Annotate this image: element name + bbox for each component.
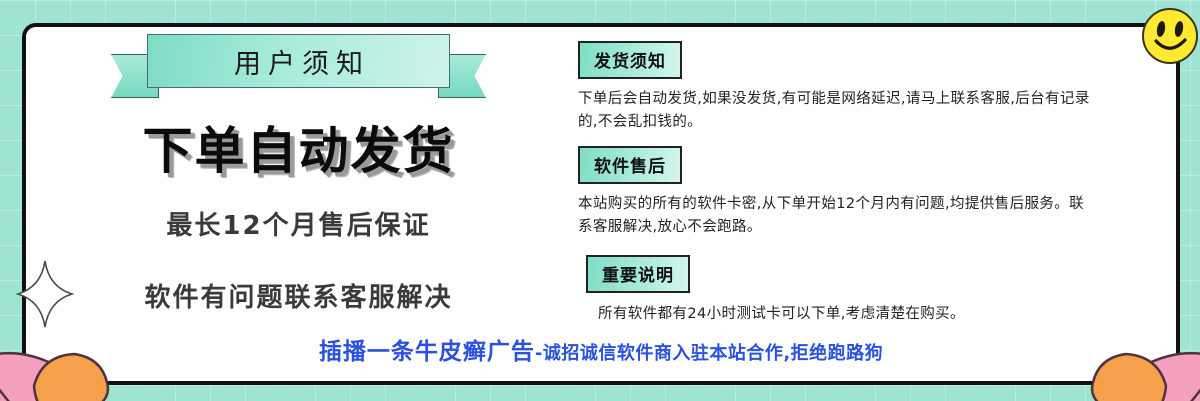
- smiley-face-icon: [1140, 6, 1200, 66]
- ribbon-band: 用户须知: [147, 34, 450, 88]
- section-shipping: 发货须知 下单后会自动发货,如果没发货,有可能是网络延迟,请马上联系客服,后台有…: [578, 41, 1098, 134]
- headline-sub-1: 最长12个月售后保证: [26, 205, 571, 242]
- section-aftersales: 软件售后 本站购买的所有的软件卡密,从下单开始12个月内有问题,均提供售后服务。…: [578, 146, 1098, 239]
- pointing-finger-right-icon: [1043, 300, 1200, 401]
- badge-aftersales: 软件售后: [578, 146, 682, 184]
- headline-main: 下单自动发货: [26, 111, 571, 183]
- badge-important: 重要说明: [586, 255, 690, 293]
- text-shipping: 下单后会自动发货,如果没发货,有可能是网络延迟,请马上联系客服,后台有记录的,不…: [578, 88, 1098, 134]
- section-important: 重要说明 所有软件都有24小时测试卡可以下单,考虑清楚在购买。: [586, 255, 1098, 326]
- pointing-finger-left-icon: [0, 300, 157, 401]
- ad-rest-text: -诚招诚信软件商入驻本站合作,拒绝跑路狗: [535, 343, 883, 364]
- badge-shipping: 发货须知: [578, 41, 682, 79]
- ad-line: 插播一条牛皮癣广告-诚招诚信软件商入驻本站合作,拒绝跑路狗: [26, 332, 1176, 366]
- promo-card: 用户须知 下单自动发货 最长12个月售后保证 软件有问题联系客服解决 发货须知 …: [22, 23, 1180, 385]
- right-column: 发货须知 下单后会自动发货,如果没发货,有可能是网络延迟,请马上联系客服,后台有…: [578, 41, 1098, 326]
- left-column: 用户须知 下单自动发货 最长12个月售后保证 软件有问题联系客服解决: [26, 27, 571, 327]
- ribbon-title: 用户须知: [227, 42, 370, 81]
- text-aftersales: 本站购买的所有的软件卡密,从下单开始12个月内有问题,均提供售后服务。联系客服解…: [578, 193, 1098, 239]
- ribbon-banner: 用户须知: [111, 34, 486, 96]
- text-important: 所有软件都有24小时测试卡可以下单,考虑清楚在购买。: [598, 303, 1098, 326]
- ad-strong-text: 插播一条牛皮癣广告: [319, 339, 535, 365]
